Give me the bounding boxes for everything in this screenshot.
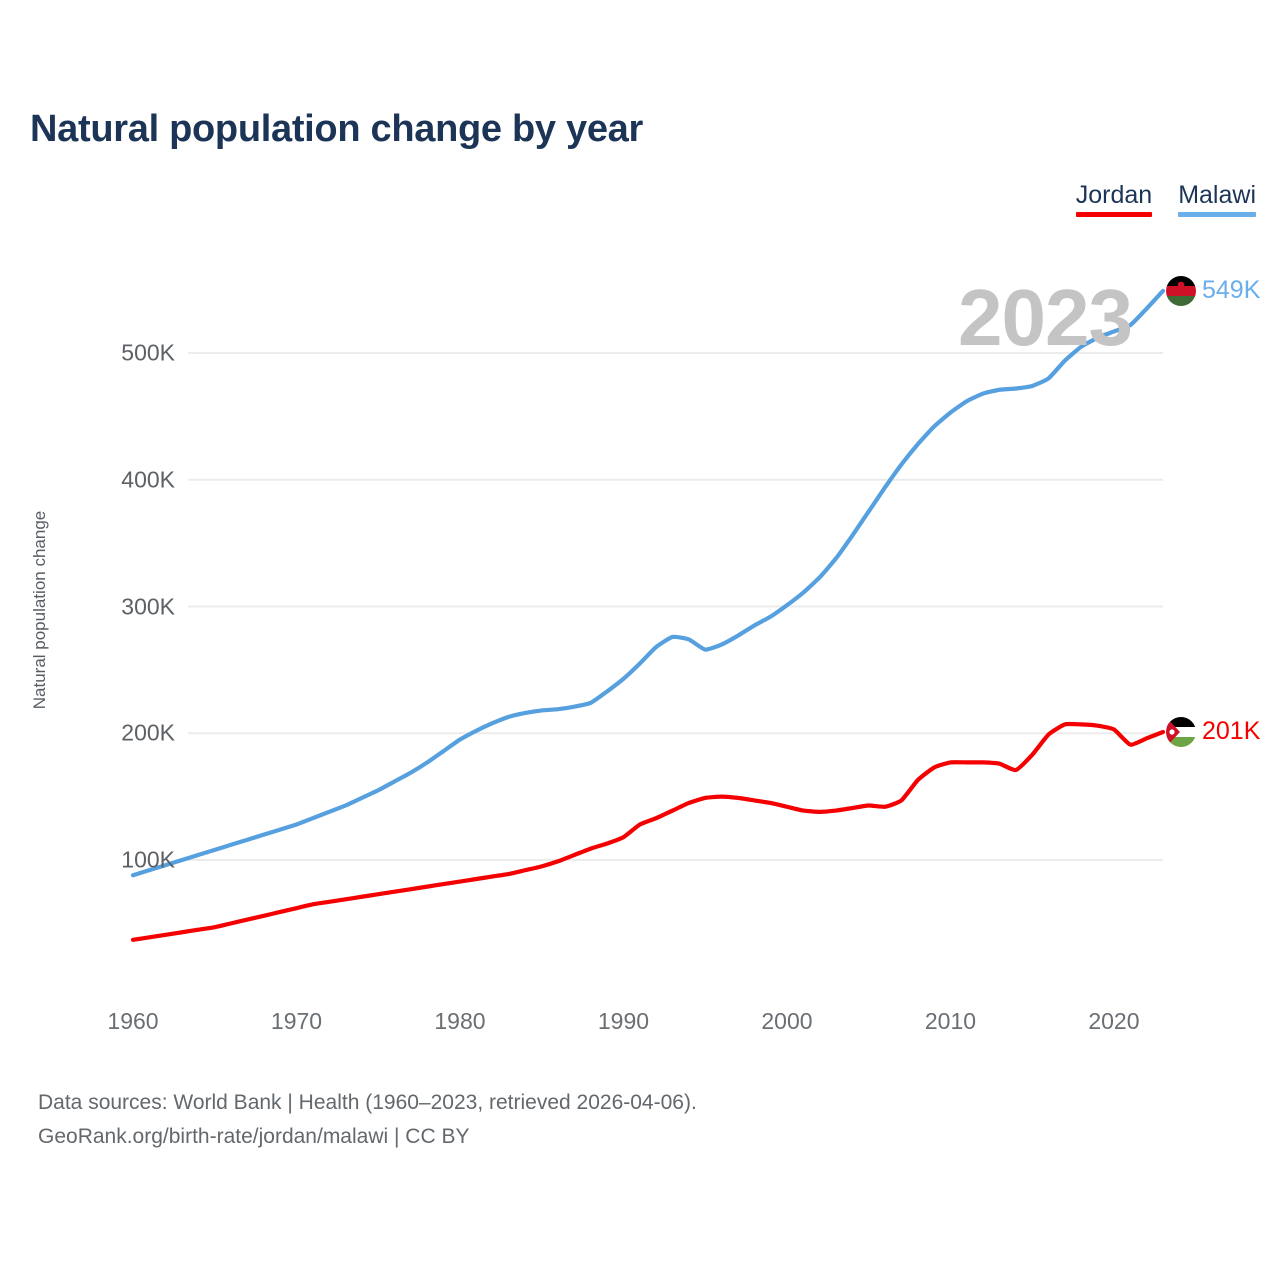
footer-line-1: Data sources: World Bank | Health (1960–…	[38, 1086, 697, 1120]
y-tick-label: 500K	[55, 340, 175, 367]
y-axis-title: Natural population change	[30, 440, 50, 780]
footer-attribution: Data sources: World Bank | Health (1960–…	[38, 1086, 697, 1154]
x-tick-label: 1970	[271, 1008, 322, 1035]
x-tick-label: 1980	[434, 1008, 485, 1035]
end-label-malawi: 549K	[1166, 276, 1260, 306]
end-value-jordan: 201K	[1202, 717, 1260, 746]
series-line-malawi	[133, 291, 1163, 875]
y-tick-label: 400K	[55, 466, 175, 493]
x-tick-label: 1960	[107, 1008, 158, 1035]
x-tick-label: 1990	[598, 1008, 649, 1035]
end-label-jordan: 201K	[1166, 717, 1260, 747]
y-tick-label: 100K	[55, 847, 175, 874]
x-tick-label: 2010	[925, 1008, 976, 1035]
y-tick-label: 200K	[55, 720, 175, 747]
watermark-year: 2023	[958, 272, 1132, 364]
chart-page: Natural population change by year Jordan…	[0, 0, 1280, 1280]
y-tick-label: 300K	[55, 593, 175, 620]
x-tick-label: 2020	[1088, 1008, 1139, 1035]
malawi-flag	[1166, 276, 1196, 306]
series-line-jordan	[133, 724, 1163, 940]
x-tick-label: 2000	[761, 1008, 812, 1035]
end-value-malawi: 549K	[1202, 276, 1260, 305]
jordan-flag	[1166, 717, 1196, 747]
footer-line-2: GeoRank.org/birth-rate/jordan/malawi | C…	[38, 1120, 697, 1154]
